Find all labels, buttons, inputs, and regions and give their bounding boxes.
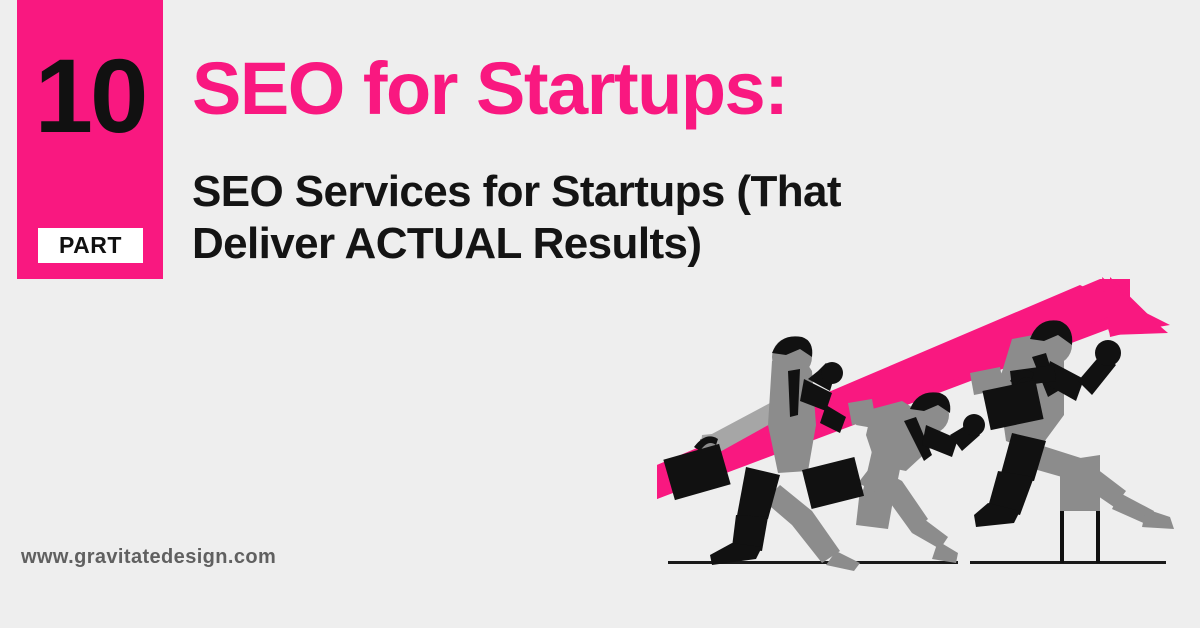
part-chip-label: PART xyxy=(59,234,122,257)
part-chip: PART xyxy=(38,228,143,263)
ground-line xyxy=(668,561,1166,564)
part-number: 10 xyxy=(17,44,163,149)
page-subtitle-line-2: Deliver ACTUAL Results) xyxy=(192,218,1097,270)
page-subtitle: SEO Services for Startups (That Deliver … xyxy=(192,166,1097,270)
part-badge: 10 PART xyxy=(17,0,163,279)
page-title: SEO for Startups: xyxy=(192,49,1072,129)
social-share-card: 10 PART SEO for Startups: SEO Services f… xyxy=(0,0,1200,628)
site-url: www.gravitatedesign.com xyxy=(21,545,276,569)
hero-illustration xyxy=(640,275,1200,580)
page-subtitle-line-1: SEO Services for Startups (That xyxy=(192,166,1097,218)
